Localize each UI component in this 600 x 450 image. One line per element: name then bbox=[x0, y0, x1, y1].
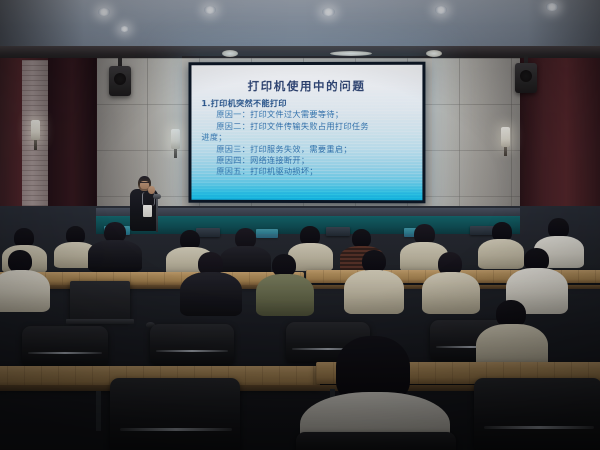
chair[interactable] bbox=[150, 324, 234, 364]
back-monitor bbox=[326, 227, 350, 236]
microphone-stand bbox=[156, 198, 158, 232]
microphone-icon bbox=[153, 194, 161, 199]
ceiling-downlight bbox=[435, 6, 447, 14]
chair-frame-bar bbox=[484, 426, 594, 429]
presenter-hand bbox=[148, 186, 155, 194]
back-monitor bbox=[256, 229, 278, 238]
laptop-base bbox=[66, 319, 134, 324]
glasses-icon bbox=[140, 182, 149, 185]
chair[interactable] bbox=[474, 378, 600, 450]
audience-torso bbox=[256, 274, 314, 316]
audience-torso bbox=[344, 270, 404, 314]
audience-torso bbox=[0, 270, 50, 312]
presenter-badge bbox=[143, 205, 152, 217]
beam-light bbox=[426, 50, 442, 57]
ceiling-downlight bbox=[120, 26, 129, 32]
beam-light bbox=[330, 51, 372, 56]
ceiling-downlight bbox=[204, 6, 216, 14]
projector-scanlines bbox=[191, 65, 422, 201]
laptop[interactable] bbox=[70, 281, 130, 321]
wall-sconce-arm bbox=[34, 140, 37, 150]
projection-screen-frame: 打印机使用中的问题 1.打印机突然不能打印 原因一：打印文件过大需要等待； 原因… bbox=[188, 62, 425, 204]
desk-leg bbox=[96, 391, 101, 431]
wall-speaker-left bbox=[109, 66, 131, 96]
audience-torso bbox=[180, 272, 242, 316]
chair[interactable] bbox=[110, 378, 240, 450]
chair-frame-bar bbox=[28, 352, 102, 354]
audience-torso bbox=[422, 272, 480, 314]
audience-torso bbox=[88, 240, 142, 272]
wall-sconce-arm bbox=[504, 146, 507, 156]
wall-sconce-left bbox=[31, 120, 40, 140]
wall-speaker-right bbox=[515, 63, 537, 93]
wall-sconce-arm bbox=[174, 148, 177, 158]
chair-frame-bar bbox=[120, 428, 232, 431]
ceiling-downlight bbox=[98, 8, 110, 16]
chair-frame-bar bbox=[156, 350, 228, 352]
ceiling-downlight bbox=[322, 8, 335, 16]
wall-sconce-center-left bbox=[171, 129, 180, 149]
beam-light bbox=[222, 50, 238, 57]
audience-torso bbox=[478, 239, 524, 269]
chair[interactable] bbox=[296, 432, 456, 450]
wall-sconce-right bbox=[501, 127, 510, 147]
ceiling-downlight bbox=[546, 3, 558, 11]
chair[interactable] bbox=[22, 326, 108, 366]
conference-room-photo: 打印机使用中的问题 1.打印机突然不能打印 原因一：打印文件过大需要等待； 原因… bbox=[0, 0, 600, 450]
back-monitor bbox=[196, 228, 220, 237]
projection-screen: 打印机使用中的问题 1.打印机突然不能打印 原因一：打印文件过大需要等待； 原因… bbox=[191, 65, 422, 201]
